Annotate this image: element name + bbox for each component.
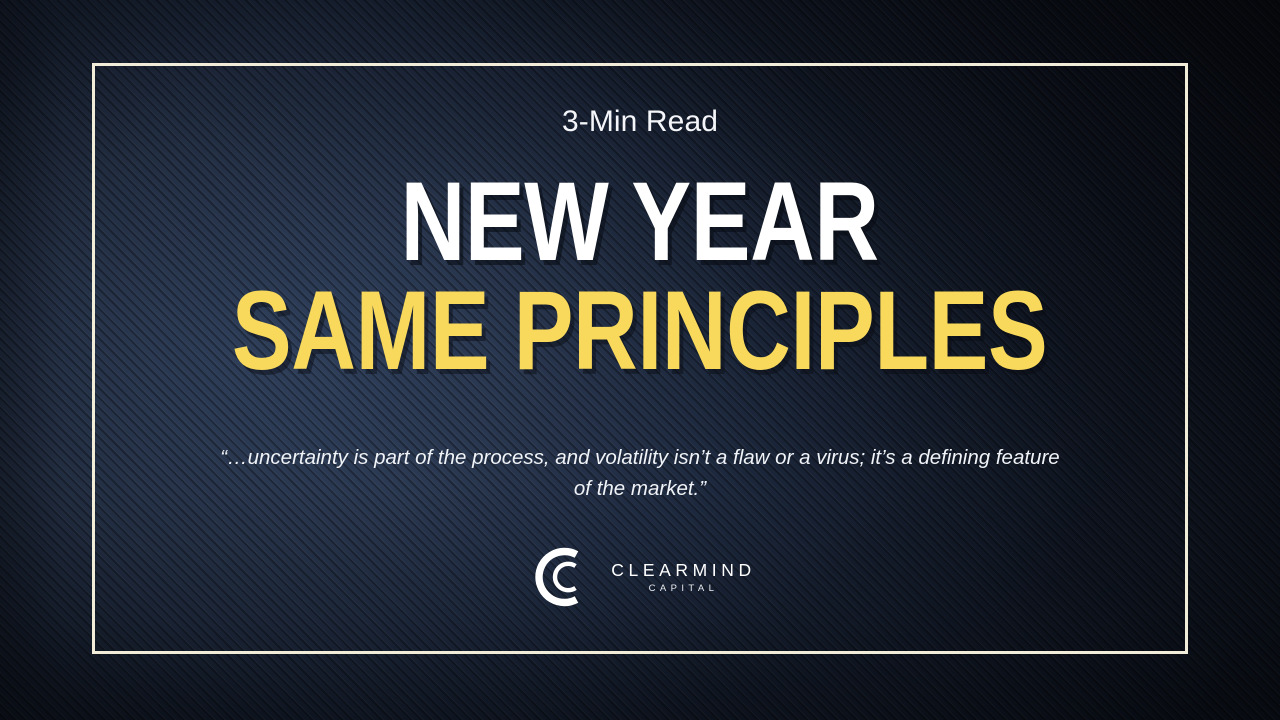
headline-line-one: NEW YEAR: [232, 173, 1047, 272]
logo-wordmark: CLEARMIND CAPITAL: [607, 559, 755, 595]
logo-company-subtitle: CAPITAL: [645, 584, 719, 594]
headline-block: NEW YEAR SAME PRINCIPLES: [130, 173, 1149, 380]
pull-quote: “…uncertainty is part of the process, an…: [210, 442, 1070, 504]
slide-content: 3-Min Read NEW YEAR SAME PRINCIPLES “…un…: [92, 63, 1188, 654]
promo-slide: 3-Min Read NEW YEAR SAME PRINCIPLES “…un…: [0, 0, 1280, 720]
clearmind-capital-logo: CLEARMIND CAPITAL: [524, 540, 755, 614]
headline-line-two: SAME PRINCIPLES: [232, 282, 1047, 381]
read-time-label: 3-Min Read: [562, 107, 718, 137]
double-c-monogram-icon: [524, 540, 598, 614]
logo-company-name: CLEARMIND: [607, 561, 755, 580]
